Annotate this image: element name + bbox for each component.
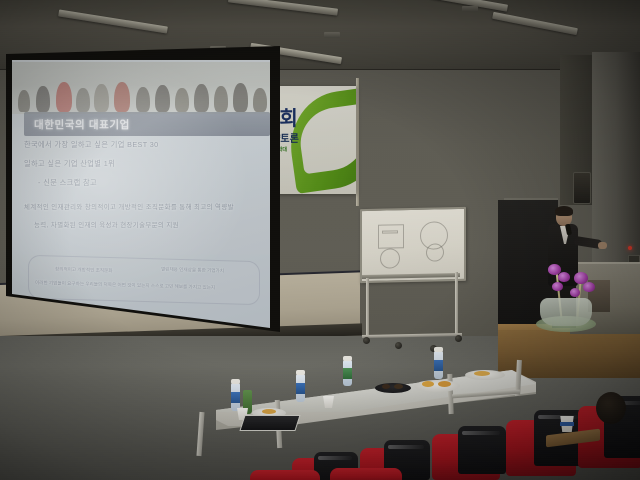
bottle-label [343, 368, 352, 379]
callout-text-bottom: 이러한 기업들이 요구하는 우리들의 덕목은 어떤 것이 있는지 스스로 고민 … [35, 280, 215, 291]
callout-text-left: 창의적이고 개방적인 조직문화 [55, 267, 113, 275]
slide-title-bar: 대한민국의 대표기업 [24, 112, 270, 136]
banner-swoosh-inner [296, 104, 356, 175]
slide-bullet: - 신문 스크랩 참고 [38, 178, 274, 188]
snack-plate [375, 383, 411, 393]
whiteboard-caster-wheel [363, 337, 370, 344]
ceiling-vent [324, 32, 340, 38]
mobile-whiteboard [360, 207, 466, 283]
banner-swoosh-logo [284, 86, 356, 194]
banner-pole [356, 78, 359, 206]
slide-callout-box: 창의적이고 개방적인 조직문화 열린채용 인재상을 통한 기업가치 이러한 기업… [28, 255, 260, 305]
projection-screen: 대한민국의 대표기업 한국에서 가장 일하고 싶은 기업 BEST 30 일하고… [2, 44, 286, 344]
bottle-cap [434, 347, 443, 352]
callout-text-right: 열린채용 인재상을 통한 기업가치 [161, 266, 224, 274]
bottle-cap [343, 356, 352, 361]
orchid-bloom [558, 272, 570, 282]
audience-member-head [596, 392, 626, 424]
snack-food [382, 384, 390, 389]
presenter-hair [555, 206, 573, 216]
bottle-label [296, 383, 305, 394]
slide-bullet: 일하고 싶은 기업 산업별 1위 [24, 159, 274, 169]
snack-food [438, 381, 451, 387]
slide-photo-band [12, 62, 278, 114]
slide-bullet: 체계적인 인재관리와 창의적이고 개방적인 조직문화를 통해 최고의 역량발 [24, 202, 274, 211]
snack-food [474, 371, 490, 376]
presenter-hand [598, 242, 607, 249]
podium-indicator-led [628, 246, 632, 250]
bottle-cap [231, 379, 240, 384]
bottle-label [231, 392, 240, 403]
slide-bullet: 능력, 차별화된 인재의 육성과 현장기술부문의 지원 [34, 220, 274, 229]
snack-food [394, 384, 403, 389]
wall-speaker-icon [573, 172, 591, 204]
slide-body: 한국에서 가장 일하고 싶은 기업 BEST 30 일하고 싶은 기업 산업별 … [24, 140, 274, 238]
coffee-cup-band [560, 422, 574, 426]
orchid-bloom [583, 282, 595, 292]
photo-scene: 수회 전략토론 한경공학대 대한민국의 대표기업 [0, 0, 640, 480]
presentation-slide: 대한민국의 대표기업 한국에서 가장 일하고 싶은 기업 BEST 30 일하고… [12, 60, 278, 332]
snack-plate [414, 380, 460, 392]
orchid-bloom [552, 282, 563, 291]
whiteboard-leg [366, 278, 369, 336]
bottle-cap [296, 370, 305, 375]
whiteboard-leg [455, 272, 458, 334]
whiteboard-caster-wheel [395, 342, 402, 349]
slide-title: 대한민국의 대표기업 [34, 117, 130, 132]
flower-vase [540, 298, 592, 326]
slide-bullet: 한국에서 가장 일하고 싶은 기업 BEST 30 [24, 140, 274, 150]
snack-food [262, 409, 276, 414]
snack-food [422, 381, 434, 387]
whiteboard-caster-wheel [455, 335, 462, 342]
orchid-bloom [570, 288, 580, 297]
ceiling-vent [462, 6, 478, 12]
dark-tray [239, 415, 300, 431]
bottle-label [434, 360, 443, 371]
